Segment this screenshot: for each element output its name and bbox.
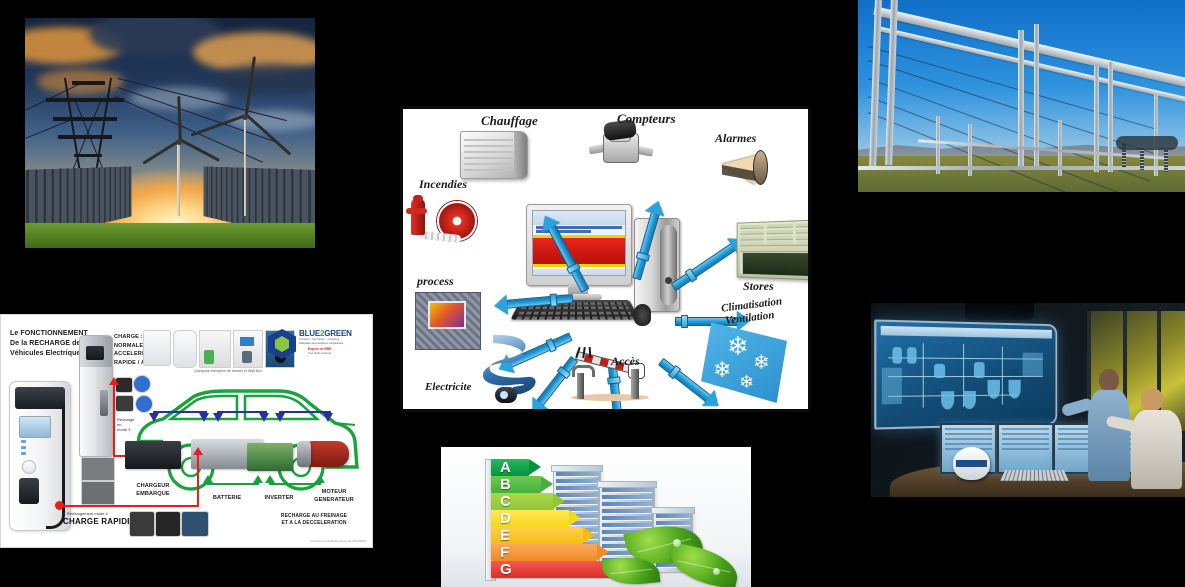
leaf — [666, 542, 742, 587]
logo-highlight: Expert en BRE — [308, 347, 332, 351]
ac-charging-post — [79, 335, 113, 457]
fire-hydrant-icon — [409, 195, 479, 243]
wallbox-caption: Quelques exemples de bornes et Wall Box — [163, 369, 293, 374]
dc-flow-line — [59, 505, 199, 507]
label-incendies: Incendies — [419, 177, 467, 192]
logo-hex-icon — [268, 329, 296, 359]
label-stores: Stores — [743, 279, 774, 294]
regen-arrow — [265, 475, 275, 483]
ac-flow-arrowhead — [109, 377, 119, 385]
logo-wordmark: BLUE2GREEN — [299, 329, 352, 338]
caption-moteur-generateur: MOTEUR GENERATEUR — [305, 489, 363, 504]
regen-arrow — [315, 475, 325, 483]
regen-bus — [269, 483, 321, 485]
caption-regen-braking: RECHARGE AU FREINAGE ET A LA DECCELERATI… — [259, 513, 369, 527]
renewable-energy-photo — [25, 18, 315, 248]
caption-batterie: BATTERIE — [199, 495, 255, 503]
traction-arrow — [259, 413, 269, 422]
substation-photo — [858, 0, 1185, 192]
mimic-wall-display — [874, 320, 1057, 430]
operator-seated — [1128, 388, 1185, 489]
dc-connector-thumb — [155, 511, 181, 537]
traction-arrow — [149, 413, 159, 422]
desk-monitor — [997, 423, 1054, 474]
logo-tagline: Conseils · Formation · Coaching — [299, 338, 339, 341]
wallbox-thumb — [143, 330, 171, 366]
lattice-tower — [1154, 94, 1158, 176]
ac-flow-line — [113, 385, 115, 457]
onboard-charger-module — [125, 441, 181, 469]
alarm-horn-icon — [717, 149, 769, 185]
solar-panel-row-left — [25, 168, 147, 228]
rating-bar: D — [491, 510, 581, 527]
logo-highlight-sub: Tous droits réservés — [308, 352, 331, 355]
dc-connector-thumb — [129, 511, 155, 537]
ev-credit: Conception et réalisation service BLUE2G… — [310, 540, 366, 543]
building-management-diagram: Chauffage Compteurs Alarmes Incendies St… — [400, 106, 811, 412]
grass-field — [25, 223, 315, 248]
wind-turbine — [205, 87, 285, 216]
label-compteurs: Compteurs — [617, 111, 676, 127]
traction-arrow — [323, 413, 333, 422]
equipment-housing — [1116, 136, 1178, 150]
electricity-icon — [475, 331, 553, 403]
safety-helmet — [953, 447, 991, 480]
label-process: process — [417, 274, 454, 289]
blue2green-logo: BLUE2GREEN Conseils · Formation · Coachi… — [268, 327, 364, 361]
water-droplet — [673, 539, 681, 547]
process-board-icon — [415, 292, 481, 350]
insulator-string — [1140, 148, 1144, 170]
keyboard — [1000, 470, 1068, 480]
lattice-tower — [1094, 66, 1099, 172]
rating-bar: F — [491, 544, 609, 561]
wallbox-thumb — [233, 330, 263, 368]
energy-rating-label: A B C D E F G — [441, 447, 751, 587]
wallbox-thumb — [199, 330, 231, 368]
component-thumb — [81, 481, 115, 505]
caption-inverter: INVERTER — [253, 495, 305, 503]
control-room-photo — [871, 303, 1185, 497]
dc-connector-thumb — [181, 511, 209, 537]
dc-flow-origin-dot — [55, 501, 64, 510]
inverter-module — [247, 443, 293, 471]
traction-arrow — [213, 413, 223, 422]
label-electricite: Electricite — [425, 381, 471, 393]
ceiling-mount — [965, 303, 1034, 320]
label-alarmes: Alarmes — [715, 131, 756, 146]
logo-tagline-2: Valorisation des énergies et compétences — [299, 342, 343, 345]
label-chauffage: Chauffage — [481, 113, 538, 129]
water-droplet — [713, 568, 720, 575]
fast-charge-note: Rechargement mode 4 — [67, 511, 108, 516]
traction-arrow — [199, 413, 209, 422]
radiator-icon — [460, 131, 528, 179]
window-blinds-icon — [737, 219, 811, 281]
rating-bar: E — [491, 527, 595, 544]
ev-charging-infographic: Le FONCTIONNEMENT De la RECHARGE des Véh… — [0, 314, 373, 548]
caption-chargeur-embarque: CHARGEUR EMBARQUE — [121, 483, 185, 498]
support-beam — [858, 166, 1185, 170]
regen-arrow — [203, 475, 213, 483]
traction-arrow — [275, 413, 285, 422]
regen-bus — [207, 483, 259, 485]
rating-bar: B — [491, 476, 553, 493]
regen-arrow — [253, 475, 263, 483]
label-acces: Accès — [611, 354, 640, 369]
rating-bar: A — [491, 459, 541, 476]
slide-canvas: Chauffage Compteurs Alarmes Incendies St… — [0, 0, 1185, 587]
wallbox-thumb — [173, 330, 197, 368]
rating-bar: C — [491, 493, 565, 510]
insulator-string — [1164, 150, 1168, 172]
motor-shaft — [297, 441, 311, 467]
component-thumb — [81, 457, 115, 481]
dc-flow-arrowhead — [193, 447, 203, 455]
mouse-icon — [634, 304, 651, 326]
